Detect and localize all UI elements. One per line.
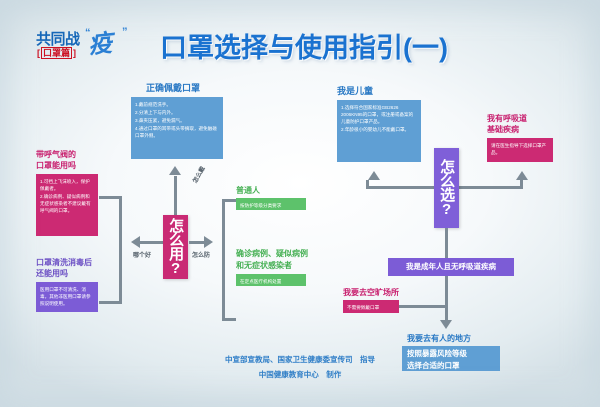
up-arrow-shaft bbox=[174, 176, 177, 218]
edge-label-which-is-better: 哪个好 bbox=[133, 250, 151, 259]
logo-subtitle-boxed: 口罩篇 bbox=[41, 47, 72, 59]
wear-correctly-line1: 1.戴前规范洗手。 bbox=[135, 101, 219, 108]
green-bracket-stub-top bbox=[222, 199, 236, 202]
reuse-head-line1: 口罩清洗消毒后 bbox=[36, 258, 92, 268]
logo-subtitle-prefix: [ bbox=[37, 48, 40, 58]
logo-subtitle-suffix: ] bbox=[73, 48, 76, 58]
right-arrow-head bbox=[204, 236, 213, 248]
adult-healthy-node: 我是成年人且无呼吸道疾病 bbox=[388, 258, 514, 276]
open-space-body: 不需要佩戴口罩 bbox=[343, 300, 399, 313]
page-title: 口罩选择与使用指引(一) bbox=[160, 26, 448, 65]
footer-line-2: 中国健康教育中心 制作 bbox=[0, 367, 600, 382]
left-arrow-shaft bbox=[140, 241, 164, 244]
respiratory-arrow-head bbox=[516, 171, 528, 180]
wear-correctly-line3: 3.鼻夹压紧，避免漏气。 bbox=[135, 117, 219, 124]
adult-healthy-label: 我是成年人且无呼吸道疾病 bbox=[406, 262, 496, 272]
edge-label-how-to-wear: 怎么戴 bbox=[190, 164, 207, 184]
wear-correctly-line4: 4.通过口罩的耳带或头带摘取，避免触碰口罩外侧。 bbox=[135, 125, 219, 139]
left-bracket-stub-top bbox=[99, 196, 121, 199]
reuse-head-line2: 还能用吗 bbox=[36, 269, 68, 279]
confirmed-cases-head-line2: 和无症状感染者 bbox=[236, 261, 292, 271]
normal-people-head: 普通人 bbox=[236, 186, 260, 196]
logo-main-text: 共同战 bbox=[36, 28, 80, 49]
child-arrow-head bbox=[368, 171, 380, 180]
wear-correctly-body: 1.戴前规范洗手。 2.分清上下与内外。 3.鼻夹压紧，避免漏气。 4.通过口罩… bbox=[131, 97, 223, 159]
confirmed-cases-line1: 在定点医疗机构处置 bbox=[240, 278, 302, 285]
decision-how-to-use[interactable]: 怎么用? bbox=[163, 215, 188, 279]
crowded-arrow-shaft bbox=[445, 276, 448, 322]
footer-line-1: 中宣部宣教局、国家卫生健康委宣传司 指导 bbox=[0, 352, 600, 367]
crowded-arrow-head bbox=[440, 320, 452, 329]
reuse-body: 医用口罩不可清洗、消毒，其他非医用口罩请参照说明使用。 bbox=[36, 282, 98, 312]
footer: 中宣部宣教局、国家卫生健康委宣传司 指导 中国健康教育中心 制作 bbox=[0, 352, 600, 382]
child-arrow-branch bbox=[366, 186, 436, 189]
infographic-poster: 共同战 “ 疫 ” [口罩篇] 口罩选择与使用指引(一) 带呼气阀的 口罩能用吗… bbox=[0, 0, 600, 407]
normal-people-body: 按防护等级分类要求 bbox=[236, 198, 306, 210]
left-bracket-trunk bbox=[119, 196, 122, 304]
valve-mask-body: 1.可挡上飞沫喷入，保护佩戴者。 2.确诊病例、疑似病例和无症状感染者不建议戴有… bbox=[36, 174, 98, 236]
wear-correctly-line2: 2.分清上下与内外。 bbox=[135, 109, 219, 116]
green-bracket-stub-bottom bbox=[222, 318, 236, 321]
respiratory-arrow-branch bbox=[457, 186, 523, 189]
open-space-line1: 不需要佩戴口罩 bbox=[347, 304, 395, 311]
respiratory-line1: 请在医生指导下选择口罩产品。 bbox=[491, 142, 549, 156]
decision-how-to-choose[interactable]: 怎么选? bbox=[434, 148, 459, 228]
logo-accent-char: 疫 bbox=[86, 23, 114, 60]
confirmed-cases-head-line1: 确诊病例、疑似病例 bbox=[236, 249, 308, 259]
open-space-head: 我要去空旷场所 bbox=[343, 288, 399, 298]
child-body: 1.选择符合国家标准GB2626 2006KN95的口罩，或注册或备案的儿童防护… bbox=[337, 100, 421, 162]
crowded-place-head: 我要去有人的地方 bbox=[407, 334, 471, 344]
choose-down-shaft bbox=[445, 228, 448, 258]
valve-mask-head-line1: 带呼气阀的 bbox=[36, 150, 76, 160]
green-bracket-trunk bbox=[222, 199, 225, 321]
edge-label-how-to-prevent: 怎么防 bbox=[192, 250, 210, 259]
left-bracket-stub-bottom bbox=[99, 301, 121, 304]
wear-correctly-head: 正确佩戴口罩 bbox=[146, 83, 200, 93]
campaign-logo: 共同战 “ 疫 ” [口罩篇] bbox=[36, 28, 136, 68]
normal-people-line1: 按防护等级分类要求 bbox=[240, 202, 302, 209]
child-head: 我是儿童 bbox=[337, 86, 373, 96]
valve-mask-body-line1: 1.可挡上飞沫喷入，保护佩戴者。 bbox=[40, 178, 94, 192]
open-space-connector bbox=[399, 305, 447, 308]
right-arrow-shaft bbox=[189, 241, 205, 244]
respiratory-head-line1: 我有呼吸道 bbox=[487, 114, 527, 124]
reuse-body-line1: 医用口罩不可清洗、消毒，其他非医用口罩请参照说明使用。 bbox=[40, 286, 94, 307]
left-arrow-head bbox=[131, 236, 140, 248]
child-line1: 1.选择符合国家标准GB2626 2006KN95的口罩，或注册或备案的儿童防护… bbox=[341, 104, 417, 125]
respiratory-head-line2: 基础疾病 bbox=[487, 125, 519, 135]
respiratory-body: 请在医生指导下选择口罩产品。 bbox=[487, 138, 553, 162]
up-arrow-head bbox=[169, 166, 181, 175]
logo-subtitle: [口罩篇] bbox=[37, 47, 76, 59]
valve-mask-body-line2: 2.确诊病例、疑似病例和无症状感染者不建议戴有呼气阀的口罩。 bbox=[40, 193, 94, 214]
decision-how-to-use-label: 怎么用? bbox=[168, 218, 183, 276]
valve-mask-head-line2: 口罩能用吗 bbox=[36, 161, 76, 171]
confirmed-cases-body: 在定点医疗机构处置 bbox=[236, 274, 306, 286]
child-line2: 2.年龄很小的婴幼儿不能戴口罩。 bbox=[341, 126, 417, 133]
decision-how-to-choose-label: 怎么选? bbox=[439, 159, 454, 217]
logo-close-quote: ” bbox=[122, 26, 128, 38]
